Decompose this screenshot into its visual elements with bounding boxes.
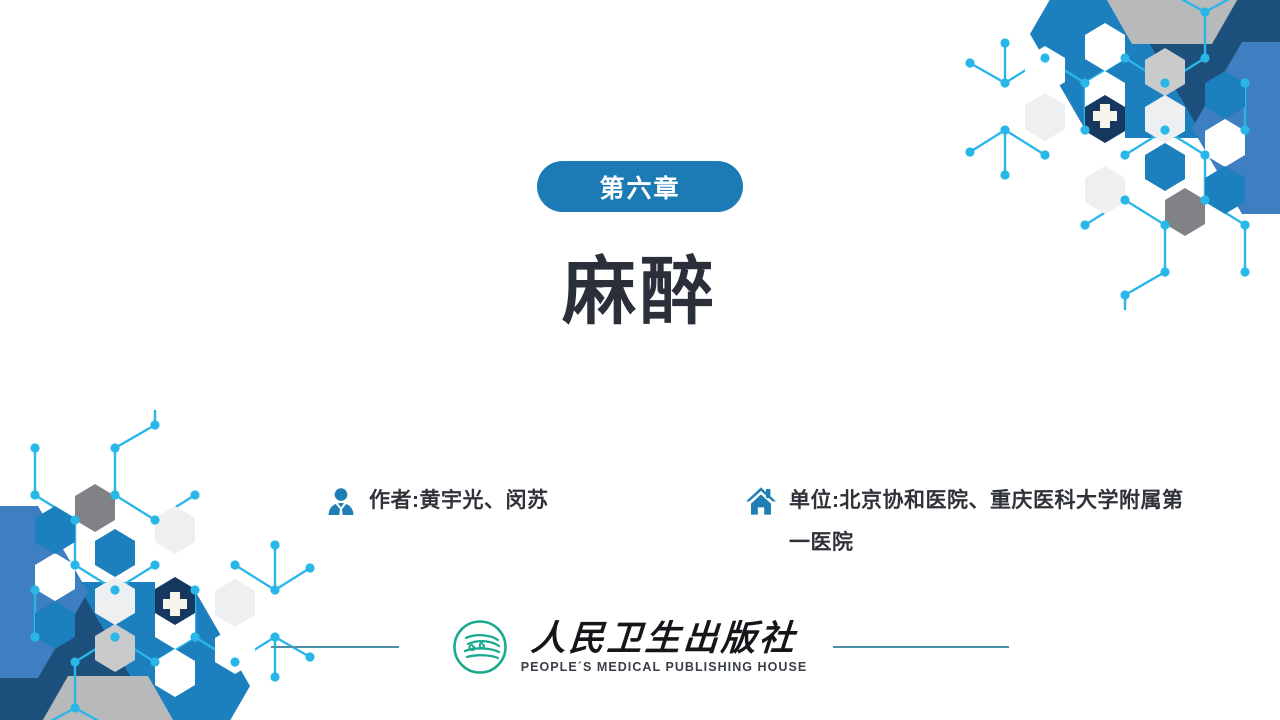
molecule-hexagons [1025,23,1245,236]
affiliation-text: 单位:北京协和医院、重庆医科大学附属第一医院 [789,480,1192,564]
slide-title: 麻醉 [0,252,1280,332]
publisher-name-cn: 人民卫生出版社 [530,621,798,656]
divider-right [833,646,1009,648]
home-icon [742,480,780,522]
publisher-swirl-mark-icon [451,618,509,676]
publisher-name-en: PEOPLE´S MEDICAL PUBLISHING HOUSE [521,661,808,674]
author-block: 作者:黄宇光、闵苏 [322,480,742,522]
author-text: 作者:黄宇光、闵苏 [369,480,549,522]
slide-footer: 人民卫生出版社 PEOPLE´S MEDICAL PUBLISHING HOUS… [0,616,1280,678]
publisher-logo: 人民卫生出版社 PEOPLE´S MEDICAL PUBLISHING HOUS… [451,618,808,676]
publisher-text: 人民卫生出版社 PEOPLE´S MEDICAL PUBLISHING HOUS… [521,621,808,674]
corner-hex-blocks [1030,0,1280,214]
person-icon [322,480,360,522]
affiliation-block: 单位:北京协和医院、重庆医科大学附属第一医院 [742,480,1192,564]
medical-cross-hexagon [1085,95,1125,143]
chapter-badge: 第六章 [537,161,743,212]
corner-hex-blocks [0,506,250,720]
divider-left [271,646,399,648]
presentation-slide: 第六章 麻醉 作者:黄宇光、闵苏 [0,0,1280,720]
slide-meta: 作者:黄宇光、闵苏 单位:北京协和医院、重庆医科大学附属第一医院 [322,480,1222,564]
